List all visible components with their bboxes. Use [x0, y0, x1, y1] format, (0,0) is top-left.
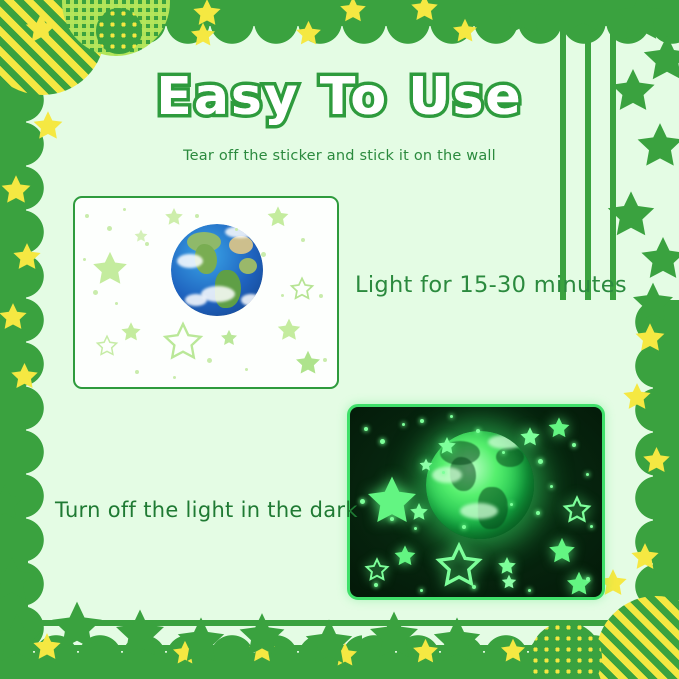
glow-speckle	[374, 583, 378, 587]
dark-room-scene	[350, 407, 602, 597]
glow-band	[432, 467, 462, 483]
star-icon-glow	[408, 501, 430, 523]
speckle	[281, 294, 284, 297]
landmass	[239, 258, 257, 274]
cloud	[225, 226, 255, 238]
earth-globe-daylight	[171, 224, 263, 316]
glow-speckle	[450, 415, 453, 418]
speckle	[207, 358, 212, 363]
star-icon-glow	[546, 415, 572, 441]
glow-speckle	[476, 429, 480, 433]
daylight-scene	[75, 198, 337, 387]
product-infographic-poster: Easy To Use Easy To Use Tear off the sti…	[0, 0, 679, 679]
cloud	[177, 254, 203, 268]
star-icon-glow	[436, 435, 458, 457]
speckle	[323, 358, 327, 362]
star-icon-wall-outline	[161, 320, 205, 364]
speckle	[145, 242, 149, 246]
speckle	[123, 208, 126, 211]
speckle	[195, 214, 199, 218]
glow-speckle	[502, 451, 505, 454]
speckle	[115, 302, 118, 305]
page-title-fill: Easy To Use	[0, 70, 679, 125]
star-icon-wall	[293, 348, 323, 378]
star-icon-glow	[392, 543, 418, 569]
landmass	[496, 447, 524, 467]
landmass	[229, 236, 253, 254]
glow-band	[460, 503, 498, 519]
star-icon-glow-outline	[562, 495, 592, 525]
cloud	[241, 294, 261, 306]
cloud	[185, 294, 207, 306]
speckle	[135, 370, 139, 374]
glow-speckle	[550, 485, 553, 488]
glow-speckle	[536, 511, 540, 515]
star-icon-glow-outline	[364, 557, 390, 583]
speckle	[245, 368, 248, 371]
glow-speckle	[414, 527, 417, 530]
speckle	[93, 290, 98, 295]
glow-speckle	[390, 517, 394, 521]
star-icon-wall	[265, 204, 291, 230]
star-icon-wall	[275, 316, 303, 344]
glow-speckle	[528, 589, 531, 592]
glow-band	[488, 435, 522, 449]
glow-speckle	[364, 427, 368, 431]
star-icon-glow	[546, 535, 578, 567]
page-subtitle: Tear off the sticker and stick it on the…	[0, 148, 679, 164]
star-icon-wall	[89, 248, 131, 290]
glow-speckle	[586, 577, 590, 581]
photo-glow-in-dark	[347, 404, 605, 600]
glow-speckle	[572, 443, 576, 447]
speckle	[301, 238, 305, 242]
star-icon-glow-outline	[434, 541, 484, 591]
glow-speckle	[538, 459, 543, 464]
glow-speckle	[380, 439, 385, 444]
star-icon-wall	[219, 328, 239, 348]
star-icon-glow	[500, 573, 518, 591]
glow-speckle	[360, 499, 365, 504]
speckle	[173, 376, 176, 379]
glow-speckle	[420, 419, 424, 423]
star-icon-glow	[564, 569, 594, 599]
glow-speckle	[586, 473, 589, 476]
star-icon-wall-outline	[289, 276, 315, 302]
star-icon-wall-outline	[95, 334, 119, 358]
poster-content: Easy To Use Easy To Use Tear off the sti…	[0, 0, 679, 679]
star-icon-glow	[518, 425, 542, 449]
photo-daylight-sticker	[73, 196, 339, 389]
speckle	[107, 226, 112, 231]
star-icon-wall	[163, 206, 185, 228]
glow-speckle	[590, 525, 593, 528]
speckle	[235, 228, 238, 231]
glow-speckle	[442, 471, 445, 474]
speckle	[85, 214, 89, 218]
star-icon-wall	[119, 320, 143, 344]
caption-step-light: Light for 15-30 minutes	[355, 272, 627, 298]
speckle	[319, 294, 323, 298]
star-icon-glow	[418, 457, 434, 473]
glow-speckle	[462, 525, 466, 529]
glow-speckle	[420, 589, 423, 592]
caption-step-dark: Turn off the light in the dark	[55, 498, 358, 522]
glow-speckle	[402, 423, 405, 426]
speckle	[83, 258, 86, 261]
glow-speckle	[472, 585, 476, 589]
speckle	[261, 252, 266, 257]
glow-speckle	[510, 503, 513, 506]
